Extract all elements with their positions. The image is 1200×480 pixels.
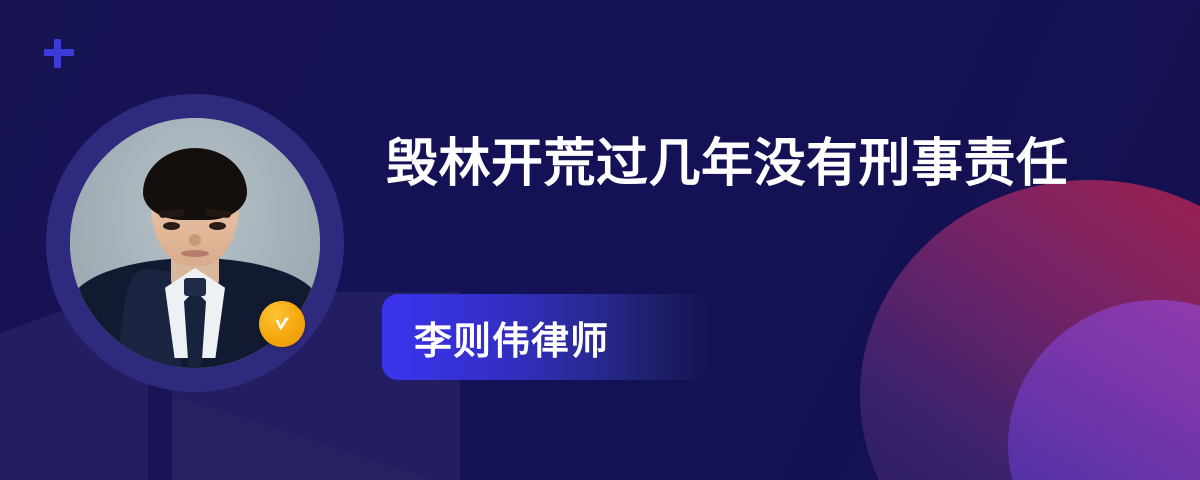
author-button[interactable]: 李则伟律师 — [382, 294, 708, 380]
portrait-nose — [189, 234, 201, 246]
verified-badge-icon — [259, 301, 305, 347]
portrait-mouth — [181, 250, 209, 257]
article-banner: 毁林开荒过几年没有刑事责任 李则伟律师 — [0, 0, 1200, 480]
page-title: 毁林开荒过几年没有刑事责任 — [386, 124, 1086, 204]
portrait-eye-right — [209, 222, 226, 230]
plus-icon-bar-vertical — [54, 39, 61, 68]
portrait-eye-left — [163, 222, 180, 230]
plus-icon — [42, 36, 76, 70]
avatar[interactable] — [46, 94, 344, 392]
portrait-tie-knot — [184, 278, 206, 296]
content-column: 毁林开荒过几年没有刑事责任 李则伟律师 — [386, 0, 1176, 480]
